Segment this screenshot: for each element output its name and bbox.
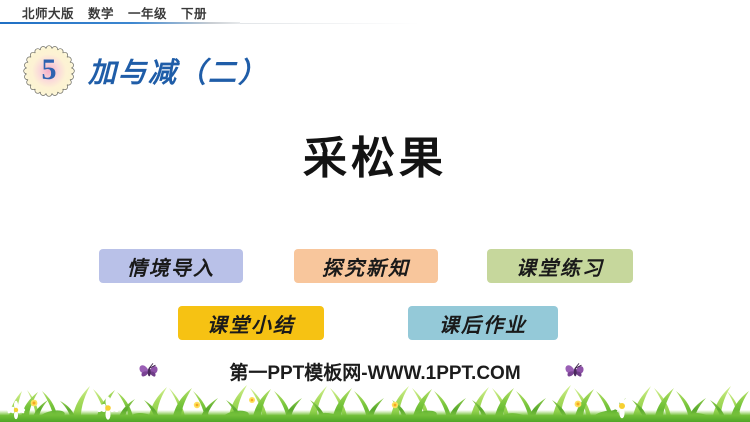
slide-header: 北师大版 数学 一年级 下册 xyxy=(0,0,750,24)
presentation-slide: 北师大版 数学 一年级 下册 xyxy=(0,0,750,422)
header-divider-tail xyxy=(240,23,420,24)
chapter-heading: 5 加与减（二） xyxy=(0,44,750,102)
volume-label: 下册 xyxy=(181,7,207,21)
chapter-number: 5 xyxy=(22,44,76,98)
watermark-text: 第一PPT模板网-WWW.1PPT.COM xyxy=(0,358,750,385)
butterfly-icon xyxy=(137,360,163,387)
chapter-title: 加与减（二） xyxy=(88,51,268,91)
textbook-meta: 北师大版 数学 一年级 下册 xyxy=(22,3,217,22)
butterfly-icon xyxy=(563,360,589,387)
header-divider xyxy=(0,22,240,24)
lesson-title: 采松果 xyxy=(0,122,750,186)
nav-button-ketang-xiaojie[interactable]: 课堂小结 xyxy=(178,306,324,340)
nav-button-qingjing-daoru[interactable]: 情境导入 xyxy=(99,249,243,283)
publisher-label: 北师大版 xyxy=(22,7,74,21)
chapter-badge-icon: 5 xyxy=(22,44,76,98)
nav-button-ketang-lianxi[interactable]: 课堂练习 xyxy=(487,249,633,283)
nav-button-tanjiu-xinzhi[interactable]: 探究新知 xyxy=(294,249,438,283)
nav-button-kehou-zuoye[interactable]: 课后作业 xyxy=(408,306,558,340)
subject-label: 数学 xyxy=(88,7,114,21)
grade-label: 一年级 xyxy=(128,7,167,21)
